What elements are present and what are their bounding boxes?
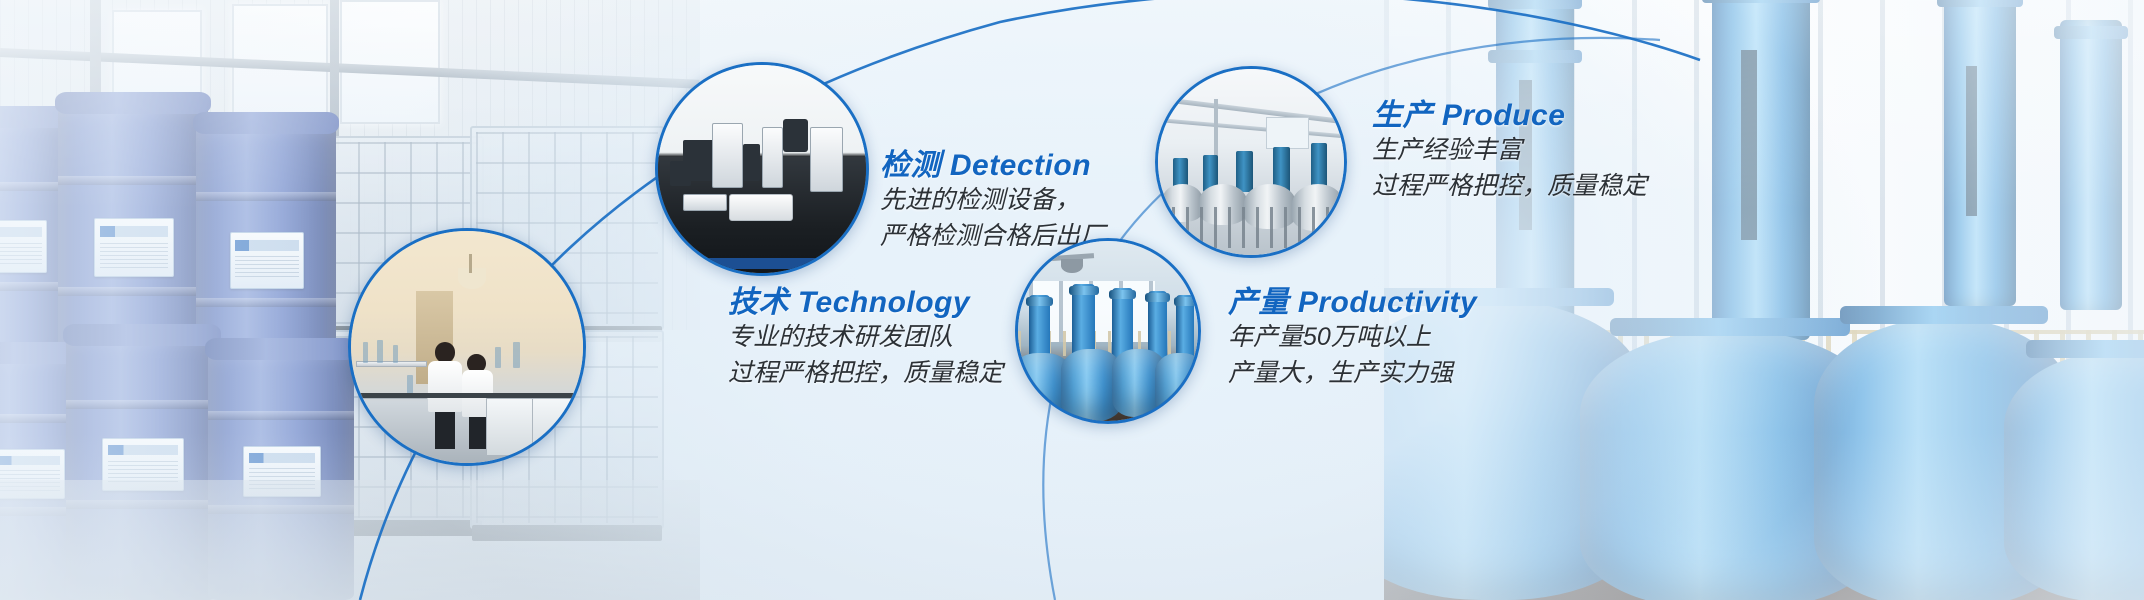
feature-heading-en: Productivity — [1298, 286, 1477, 319]
feature-heading-en: Produce — [1442, 99, 1566, 132]
feature-line: 过程严格把控，质量稳定 — [1372, 169, 1647, 205]
feature-text-detection: 检测 Detection 先进的检测设备， 严格检测合格后出厂 — [880, 148, 1105, 254]
reactor-body — [1155, 353, 1201, 418]
feature-heading-cn: 检测 — [880, 149, 941, 182]
feature-heading-cn: 产量 — [1228, 286, 1289, 319]
lab-testing-instruments-photo — [658, 65, 866, 273]
feature-heading-en: Detection — [950, 149, 1091, 182]
production-reactor-hall-photo — [1158, 69, 1344, 255]
company-strength-banner: 检测 Detection 先进的检测设备， 严格检测合格后出厂 生产 P — [0, 0, 2144, 600]
feature-line: 产量大，生产实力强 — [1228, 356, 1477, 392]
feature-photo-produce[interactable] — [1155, 66, 1347, 258]
feature-text-produce: 生产 Produce 生产经验丰富 过程严格把控，质量稳定 — [1372, 98, 1647, 204]
feature-text-technology: 技术 Technology 专业的技术研发团队 过程严格把控，质量稳定 — [728, 285, 1003, 391]
blue-reactor-vessels-photo — [1018, 241, 1198, 421]
feature-heading-productivity: 产量 Productivity — [1228, 285, 1477, 320]
feature-photo-technology[interactable] — [348, 228, 586, 466]
feature-photo-productivity[interactable] — [1015, 238, 1201, 424]
feature-heading-cn: 生产 — [1372, 99, 1433, 132]
feature-photo-detection[interactable] — [655, 62, 869, 276]
feature-heading-en: Technology — [798, 286, 970, 319]
feature-heading-technology: 技术 Technology — [728, 285, 1003, 320]
feature-heading-detection: 检测 Detection — [880, 148, 1105, 183]
feature-heading-cn: 技术 — [728, 286, 789, 319]
feature-line: 过程严格把控，质量稳定 — [728, 356, 1003, 392]
feature-line: 专业的技术研发团队 — [728, 320, 1003, 356]
feature-line: 生产经验丰富 — [1372, 133, 1647, 169]
feature-text-productivity: 产量 Productivity 年产量50万吨以上 产量大，生产实力强 — [1228, 285, 1477, 391]
feature-line: 先进的检测设备， — [880, 183, 1105, 219]
rnd-laboratory-staff-photo — [351, 231, 583, 463]
feature-line: 年产量50万吨以上 — [1228, 320, 1477, 356]
feature-heading-produce: 生产 Produce — [1372, 98, 1647, 133]
